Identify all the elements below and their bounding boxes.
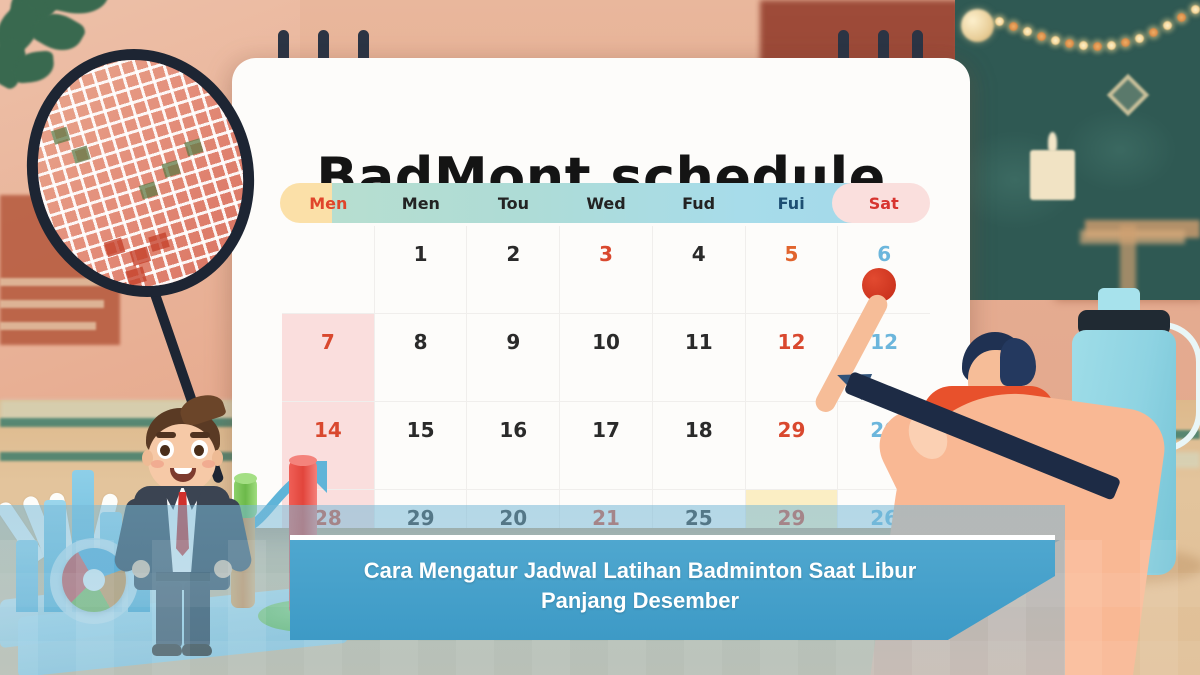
thumbnail-canvas: BadMont schedule MenMenTouWedFudFuiSat 1…	[0, 0, 1200, 675]
day-header-5[interactable]: Fui	[745, 183, 838, 223]
calendar-day-cell[interactable]: 11	[653, 314, 746, 402]
calendar-day-number: 17	[560, 418, 652, 442]
ornament-round-icon	[961, 9, 994, 42]
banner-top-edge	[290, 535, 1055, 540]
banner-title-text: Cara Mengatur Jadwal Latihan Badminton S…	[290, 556, 990, 616]
calendar-day-number: 5	[746, 242, 838, 266]
calendar-day-number: 6	[838, 242, 930, 266]
calendar-day-cell[interactable]: 5	[746, 226, 839, 314]
day-header-row: MenMenTouWedFudFuiSat	[282, 183, 930, 223]
calendar-day-number: 7	[282, 330, 374, 354]
candle-flame-icon	[1048, 132, 1057, 152]
string-lights-garland	[955, 0, 1200, 65]
mascot-eyebrow	[190, 432, 210, 438]
calendar-day-number: 16	[467, 418, 559, 442]
calendar-day-number: 3	[560, 242, 652, 266]
day-header-6[interactable]: Sat	[837, 183, 930, 223]
shelf-divider	[0, 322, 96, 330]
calendar-day-number: 15	[375, 418, 467, 442]
calendar-day-number: 10	[560, 330, 652, 354]
mascot-cheek	[202, 460, 215, 468]
mascot-pupil	[194, 445, 204, 456]
calendar-day-cell[interactable]: 9	[467, 314, 560, 402]
calendar-day-number: 29	[746, 418, 838, 442]
title-banner: Cara Mengatur Jadwal Latihan Badminton S…	[290, 540, 1055, 640]
banner-title-line-1: Cara Mengatur Jadwal Latihan Badminton S…	[290, 556, 990, 586]
calendar-week-row: 14151617182920	[282, 402, 930, 490]
candle	[1030, 150, 1075, 200]
calendar-day-cell[interactable]: 18	[653, 402, 746, 490]
calendar-day-number: 2	[467, 242, 559, 266]
calendar-day-number: 12	[746, 330, 838, 354]
calendar-day-cell[interactable]: 4	[653, 226, 746, 314]
day-header-0[interactable]: Men	[282, 183, 375, 223]
mascot-eyebrow	[156, 432, 176, 438]
calendar-day-cell[interactable]: 2	[467, 226, 560, 314]
calendar-day-cell[interactable]	[282, 226, 375, 314]
calendar-day-number: 14	[282, 418, 374, 442]
mascot-cheek	[151, 460, 164, 468]
banner-title-line-2: Panjang Desember	[290, 586, 990, 616]
calendar-day-cell[interactable]: 1	[375, 226, 468, 314]
calendar-day-number: 9	[467, 330, 559, 354]
calendar-day-cell[interactable]: 16	[467, 402, 560, 490]
day-header-1[interactable]: Men	[375, 183, 468, 223]
calendar-day-cell[interactable]: 17	[560, 402, 653, 490]
calendar-week-row: 123456	[282, 226, 930, 314]
calendar-day-cell[interactable]: 7	[282, 314, 375, 402]
calendar-day-cell[interactable]: 15	[375, 402, 468, 490]
calendar-day-number: 4	[653, 242, 745, 266]
calendar-day-cell[interactable]: 29	[746, 402, 839, 490]
day-header-2[interactable]: Tou	[467, 183, 560, 223]
calendar-day-number: 18	[653, 418, 745, 442]
day-header-3[interactable]: Wed	[560, 183, 653, 223]
calendar-day-cell[interactable]: 10	[560, 314, 653, 402]
mascot-pupil	[160, 445, 170, 456]
calendar-day-cell[interactable]: 3	[560, 226, 653, 314]
calendar-card: BadMont schedule MenMenTouWedFudFuiSat 1…	[232, 58, 970, 528]
day-header-4[interactable]: Fud	[652, 183, 745, 223]
calendar-day-number: 1	[375, 242, 467, 266]
calendar-day-cell[interactable]: 8	[375, 314, 468, 402]
calendar-day-number: 11	[653, 330, 745, 354]
calendar-day-number: 8	[375, 330, 467, 354]
